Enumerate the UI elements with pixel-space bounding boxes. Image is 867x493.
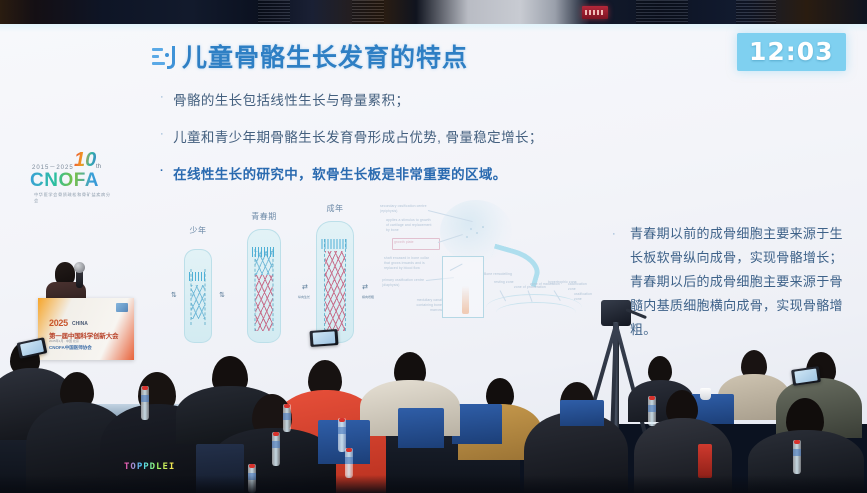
- podium-year: 2025: [49, 318, 68, 328]
- clock-time: 12:03: [749, 37, 834, 66]
- podium-badge: [116, 303, 128, 312]
- jacket-graphic-text: TOPPDLEI: [124, 462, 175, 472]
- list-item: · 儿童和青少年期骨骼生长发育骨形成占优势, 骨量稳定增长；: [160, 126, 630, 146]
- anatomy-label: primary ossification centre (diaphysis): [382, 278, 426, 288]
- anatomy-section-label: resting zone: [494, 280, 514, 285]
- slide-title: 儿童骨骼生长发育的特点: [152, 38, 468, 74]
- water-bottle: [338, 418, 346, 452]
- list-item-emphasized: · 在线性生长的研究中，软骨生长板是非常重要的区域。: [160, 163, 630, 183]
- conference-photo: 儿童骨骼生长发育的特点 · 骨骼的生长包括线性生长与骨量累积； · 儿童和青少年…: [0, 0, 867, 493]
- slide-bullet-list: · 骨骼的生长包括线性生长与骨量累积； · 儿童和青少年期骨骼生长发育骨形成占优…: [160, 89, 630, 200]
- podium-country: CHINA: [72, 321, 88, 327]
- bone-stage-label: 成年: [304, 203, 366, 214]
- bone-growth-diagram: 少年 ⇅ ⇅ 青春期 成年 ⇄ ⇄ 纵向生长 横向增粗: [168, 198, 368, 343]
- bullet-text: 骨骼的生长包括线性生长与骨量累积；: [173, 89, 409, 109]
- logo-anniversary-number: 10: [74, 149, 96, 172]
- bullet-marker: ·: [160, 89, 164, 106]
- anatomy-diagram: secondary ossification centre (epiphysis…: [378, 198, 593, 338]
- anatomy-label: applies a stimulus to growth of cartilag…: [386, 218, 432, 233]
- bar-chart-icon: [152, 44, 172, 68]
- clock-overlay: 12:03: [737, 33, 846, 71]
- right-paragraph-text: 青春期以前的成骨细胞主要来源于生长板软骨纵向成骨，实现骨骼增长；青春期以后的成骨…: [612, 222, 847, 342]
- water-bottle: [648, 396, 656, 426]
- anatomy-section-label: calcification zone: [568, 282, 593, 292]
- podium-banner: 2025 CHINA 第一届中国科学创新大会 2025年1月 · 中国 北京 C…: [38, 298, 134, 360]
- bullet-marker: ·: [160, 126, 164, 143]
- bullet-marker: ·: [612, 222, 616, 246]
- water-bottle: [272, 432, 280, 466]
- arrow-note-right: 横向增粗: [362, 295, 374, 299]
- exit-sign: [582, 6, 608, 19]
- logo-wordmark: CNOFA: [30, 170, 114, 192]
- water-bottle: [141, 386, 149, 420]
- anatomy-label: secondary ossification centre (epiphysis…: [380, 204, 428, 214]
- paper-cup: [700, 388, 711, 400]
- thermos-red: [698, 444, 712, 478]
- bone-stage-label: 少年: [170, 225, 226, 236]
- list-item: · 骨骼的生长包括线性生长与骨量累积；: [160, 89, 630, 109]
- bone-stage-label: 青春期: [234, 211, 294, 222]
- arrow-note: 纵向生长: [298, 295, 310, 299]
- foreground-shadow: [0, 475, 867, 493]
- seat-back: [560, 400, 604, 426]
- anatomy-label-growth-plate: growth plate: [394, 240, 438, 245]
- water-bottle: [283, 404, 291, 432]
- podium-small-note: 2025年1月 · 中国 北京: [49, 339, 79, 343]
- bullet-marker: ·: [160, 163, 164, 180]
- water-bottle: [793, 440, 801, 474]
- anatomy-label: shaft encased in bone collar that grows …: [384, 256, 434, 271]
- slide-right-paragraph: · 青春期以前的成骨细胞主要来源于生长板软骨纵向成骨，实现骨骼增长；青春期以后的…: [612, 222, 847, 342]
- logo-subtitle: 中华医学会骨质疏松和骨矿盐疾病分会: [34, 192, 114, 204]
- audience-phone: [309, 329, 338, 347]
- ceiling-strip: [0, 0, 867, 24]
- microphone-head: [74, 262, 85, 273]
- anatomy-section-label: Bone remodelling: [484, 272, 512, 277]
- page-title: 儿童骨骼生长发育的特点: [182, 38, 468, 74]
- anatomy-label: medullary canal containing bone marrow: [416, 298, 442, 313]
- water-bottle: [345, 448, 353, 478]
- seat-back: [398, 408, 444, 448]
- podium-org: CNOFA中国医师协会: [49, 345, 92, 351]
- screen-top-glow: [0, 24, 867, 32]
- bullet-text: 在线性生长的研究中，软骨生长板是非常重要的区域。: [173, 163, 507, 183]
- bullet-text: 儿童和青少年期骨骼生长发育骨形成占优势, 骨量稳定增长；: [173, 126, 543, 146]
- cnofa-logo: 2015－2025 10 th CNOFA 中华医学会骨质疏松和骨矿盐疾病分会: [30, 146, 114, 204]
